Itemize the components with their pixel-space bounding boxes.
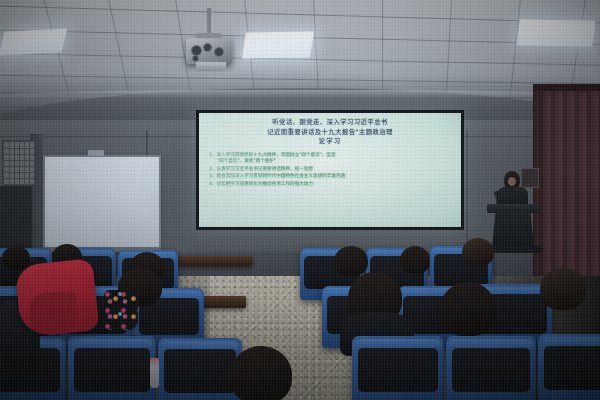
lectern-body: [492, 212, 534, 248]
seat[interactable]: [446, 336, 536, 400]
lecture-hall-photo: 听党话、跟党走、深入学习习近平总书 记近期重要讲话及十九大报告"主题政治理 论学…: [0, 0, 600, 400]
slide-bullet-2: 2、认真学习习近平总书记重要讲话精神，统一思想: [209, 166, 451, 174]
slide-title-line-1: 听党话、跟党走、深入学习习近平总书: [209, 118, 451, 128]
speaker-face: [508, 177, 516, 186]
attendee-head: [334, 246, 368, 276]
ceiling-light-left: [0, 28, 67, 55]
seat[interactable]: [352, 336, 444, 400]
attendee-head: [400, 246, 430, 274]
whiteboard-clip: [88, 150, 104, 156]
window-grille: [2, 140, 36, 186]
slide-title-line-3: 论学习: [209, 137, 451, 147]
slide-bullet-3: 3、结合实际深入学习贯彻新时代中国特色社会主义思想的丰富内涵: [209, 173, 451, 181]
attendee-head: [230, 346, 292, 400]
wall-picture-frame: [521, 168, 539, 188]
ceiling-light-right: [516, 19, 595, 46]
red-jacket-fold: [30, 292, 76, 332]
attendee-head: [462, 238, 494, 266]
slide-bullet-4: 4、切实把学习成果转化为推动各项工作的强大动力: [209, 181, 451, 189]
seat[interactable]: [158, 338, 242, 400]
seat[interactable]: [538, 334, 600, 400]
soffit-highlight: [0, 90, 600, 98]
slide-bullet-1-cont: "四个自信"，做到"两个维护": [209, 158, 451, 166]
slide-title-line-2: 记近期重要讲话及十九大报告"主题政治理: [209, 128, 451, 138]
projector-icon: [186, 38, 232, 64]
floral-bag[interactable]: [104, 290, 138, 330]
curtain-rail: [533, 84, 600, 91]
whiteboard: [43, 155, 161, 251]
ceiling-light-center: [242, 31, 314, 58]
projector-tray: [196, 62, 226, 71]
water-bottle[interactable]: [150, 358, 159, 388]
slide-bullet-list: 1、深入学习贯彻党的十九大精神，牢固树立"四个意识"，坚定 "四个自信"，做到"…: [209, 152, 451, 189]
attendee-head: [540, 268, 586, 310]
seat[interactable]: [68, 336, 156, 400]
desk-rail: [176, 256, 252, 266]
attendee-head: [2, 246, 30, 270]
projection-screen: 听党话、跟党走、深入学习习近平总书 记近期重要讲话及十九大报告"主题政治理 论学…: [196, 110, 464, 230]
projection-screen-surface: 听党话、跟党走、深入学习习近平总书 记近期重要讲话及十九大报告"主题政治理 论学…: [199, 113, 461, 227]
lectern-top: [487, 204, 539, 213]
attendee-head: [440, 282, 496, 336]
